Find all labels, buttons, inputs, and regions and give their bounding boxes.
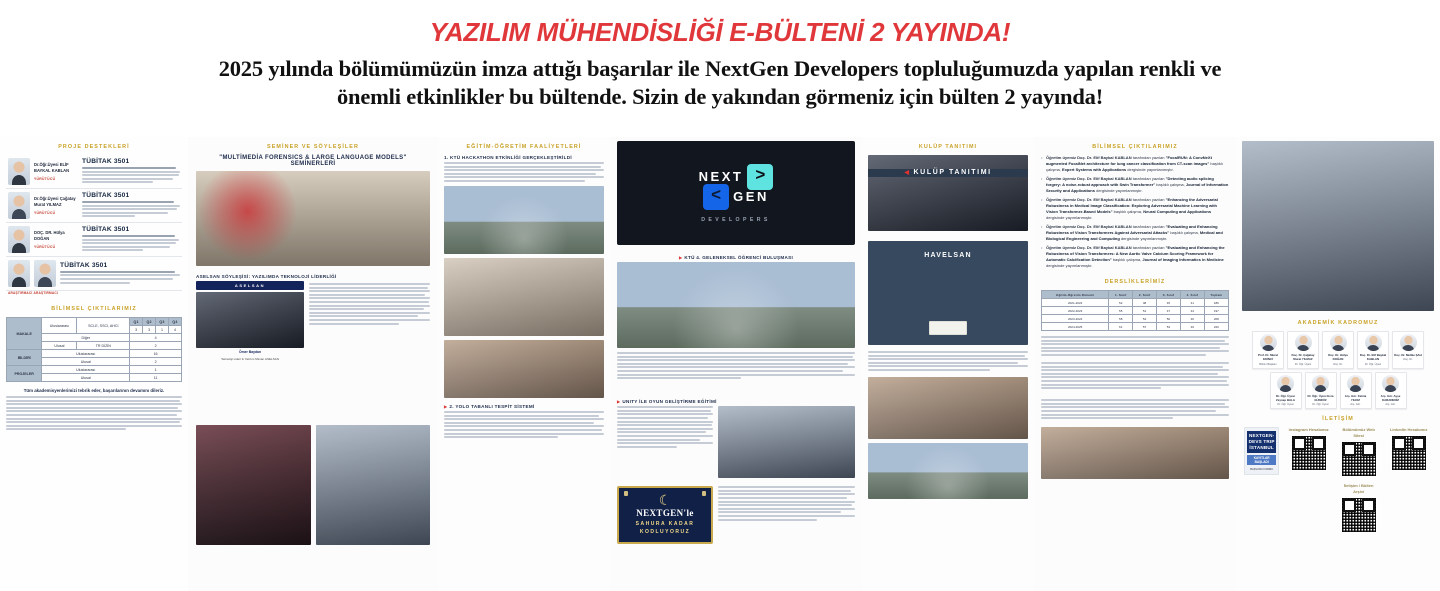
faculty-role: Doç. Dr. bbox=[1394, 358, 1422, 361]
column-faculty-and-contact: AKADEMİK KADROMUZ Prof. Dr. Murat EKİNCİ… bbox=[1236, 137, 1440, 591]
table-cell-y1: 58 bbox=[1109, 315, 1133, 323]
table-cell-y2: 57 bbox=[1133, 323, 1157, 331]
table-cell-total: 186 bbox=[1204, 299, 1228, 307]
faculty-name: Doç. Dr. Hülya DOĞAN bbox=[1324, 353, 1352, 362]
publication-end: dergisinde yayımlanmıştır. bbox=[1096, 188, 1142, 193]
avatar bbox=[1260, 334, 1277, 351]
section-heading-education: EĞİTİM-ÖĞRETİM FAALİYETLERİ bbox=[444, 144, 604, 150]
aselsan-talk-title: ASELSAN SÖYLEŞİSİ: YAZILIMDA TEKNOLOJİ L… bbox=[196, 274, 430, 279]
publication-item: Öğretim üyemiz Doç. Dr. Elif Baykal KABL… bbox=[1041, 197, 1229, 221]
club-intro-banner: KULÜP TANITIMI bbox=[868, 169, 1028, 177]
section-heading-project-supports: PROJE DESTEKLERİ bbox=[6, 144, 182, 150]
closing-paragraph bbox=[6, 396, 182, 430]
publication-item: Öğretim üyemiz Doç. Dr. Elif Baykal KABL… bbox=[1041, 176, 1229, 194]
table-cell-total: 208 bbox=[1204, 315, 1228, 323]
faculty-card: Prof. Dr. Murat EKİNCİ Bölüm Başkanı bbox=[1252, 331, 1284, 369]
table-cell-y1: 61 bbox=[1109, 323, 1133, 331]
hackathon-text bbox=[444, 162, 604, 182]
flyer-footer: BAŞVURU FORMU bbox=[1247, 468, 1276, 471]
publication-author: Öğretim üyemiz Doç. Dr. Elif Baykal KABL… bbox=[1046, 245, 1132, 250]
table-cell-term: 2021-2022 bbox=[1042, 299, 1109, 307]
lantern-icon bbox=[624, 491, 628, 496]
club-activity-photo bbox=[868, 377, 1028, 439]
table-cell-y4: 46 bbox=[1180, 315, 1204, 323]
faculty-name: Arş. Gör. Fatma YILDIZ bbox=[1342, 394, 1370, 403]
table-header-q3: Q3 bbox=[156, 318, 169, 326]
publication-item: Öğretim üyemiz Doç. Dr. Elif Baykal KABL… bbox=[1041, 224, 1229, 242]
scientific-outputs-table: MAKALE Uluslararası SCI-E, SSCI, AHCI Q1… bbox=[6, 317, 182, 382]
section-heading-seminars: SEMİNER VE SÖYLEŞİLER bbox=[196, 144, 430, 150]
qr-code-item[interactable]: Instagram Hesabımız bbox=[1289, 427, 1329, 477]
subtitle-line-1: 2025 yılında bölümümüzün imza attığı baş… bbox=[6, 55, 1434, 84]
seminar-photo bbox=[196, 171, 430, 266]
publication-author: Öğretim üyemiz Doç. Dr. Elif Baykal KABL… bbox=[1046, 155, 1132, 160]
table-cell-value: 1 bbox=[130, 366, 182, 374]
table-header-q4: Q4 bbox=[169, 318, 182, 326]
researcher-role: YÜRÜTÜCÜ bbox=[34, 211, 78, 215]
publication-connector: tarafından yazılan bbox=[1133, 224, 1165, 229]
flyer-subtitle: KAYITLAR BAŞLADI bbox=[1247, 455, 1276, 465]
researcher-role: YÜRÜTÜCÜ bbox=[34, 245, 78, 249]
yolo-text bbox=[444, 411, 604, 438]
faculty-card: Dr. Öğr. Üyesi Esra GÜNDÜZ Dr. Öğr. Üyes… bbox=[1305, 372, 1337, 410]
table-cell-y3: 53 bbox=[1157, 323, 1181, 331]
unity-training-photo bbox=[718, 406, 855, 478]
table-cell-group: Uluslararası bbox=[42, 350, 130, 358]
project-program: TÜBİTAK 3501 bbox=[82, 192, 180, 199]
sahura-poster-title: NEXTGEN'le bbox=[622, 508, 708, 518]
researcher-identity: Dr.Öğr.Üyesi ELİF BAYKAL KABLAN YÜRÜTÜCÜ bbox=[34, 162, 78, 181]
table-cell-group: Uluslararası bbox=[42, 366, 130, 374]
table-cell-y1: 55 bbox=[1109, 307, 1133, 315]
column-nextgen: NEXT > < GEN DEVELOPERS KTÜ 4. GELENEKSE… bbox=[610, 137, 862, 591]
lab-photo bbox=[444, 340, 604, 398]
publication-connector: tarafından yazılan bbox=[1133, 245, 1165, 250]
faculty-name: Dr. Öğr. Üyesi Esra GÜNDÜZ bbox=[1307, 394, 1335, 403]
club-intro-banner-label: KULÜP TANITIMI bbox=[904, 169, 991, 176]
publication-journal: Expert Systems with Applications bbox=[1062, 167, 1126, 172]
table-cell-value: 11 bbox=[130, 374, 182, 382]
publication-journal: Neural Computing and Applications bbox=[1143, 209, 1211, 214]
ceremony-photo bbox=[196, 425, 311, 545]
faculty-name: Prof. Dr. Murat EKİNCİ bbox=[1254, 353, 1282, 362]
table-cell-q3-value: 1 bbox=[156, 326, 169, 334]
classroom-photo bbox=[444, 258, 604, 336]
table-row: 2022-2023 55 51 47 44 197 bbox=[1042, 307, 1229, 315]
nextgen-developers-logo: NEXT > < GEN DEVELOPERS bbox=[617, 141, 855, 245]
lantern-icon bbox=[702, 491, 706, 496]
qr-code-item[interactable]: Bölümümüz Web Sitesi bbox=[1339, 427, 1379, 477]
researcher-name: Dr.Öğr.Üyesi ELİF BAYKAL KABLAN bbox=[34, 162, 78, 174]
avatar bbox=[1400, 334, 1417, 351]
table-header-total: Toplam bbox=[1204, 291, 1228, 299]
sahura-event-text bbox=[718, 486, 855, 544]
faculty-card: Dr. Öğr. Üyesi Zeynep BALA Dr. Öğr. Üyes… bbox=[1270, 372, 1302, 410]
committee-text bbox=[1041, 362, 1229, 389]
newsletter-poster-image: PROJE DESTEKLERİ Dr.Öğr.Üyesi ELİF BAYKA… bbox=[0, 137, 1440, 591]
meetup-text bbox=[617, 352, 855, 379]
aselsan-talk-photo bbox=[196, 292, 304, 348]
table-cell-total: 220 bbox=[1204, 323, 1228, 331]
faculty-name: Arş. Gör. Ayşe KARADENİZ bbox=[1377, 394, 1405, 403]
researcher-project: TÜBİTAK 3501 bbox=[60, 262, 180, 285]
researcher-card: DOÇ. DR. Hülya DOĞAN YÜRÜTÜCÜ TÜBİTAK 35… bbox=[6, 223, 182, 257]
faculty-role: Dr. Öğr. Üyesi bbox=[1289, 363, 1317, 366]
faculty-card: Doç. Dr. Çağatay Murat YILMAZ Dr. Öğr. Ü… bbox=[1287, 331, 1319, 369]
table-cell-group: Ulusal bbox=[42, 342, 77, 350]
table-header-term: Eğitim-Öğretim Dönemi bbox=[1042, 291, 1109, 299]
club-group-photo bbox=[868, 443, 1028, 499]
column-project-supports: PROJE DESTEKLERİ Dr.Öğr.Üyesi ELİF BAYKA… bbox=[0, 137, 188, 591]
meetup-photo bbox=[617, 262, 855, 348]
speaker-role: Teknoloji Lideri & Yazılım Mimarı ASELSA… bbox=[196, 357, 304, 362]
table-row: 2021-2022 52 48 45 41 186 bbox=[1042, 299, 1229, 307]
qr-code-icon[interactable] bbox=[1391, 435, 1427, 471]
avatar bbox=[1277, 375, 1294, 392]
student-counts-table: Eğitim-Öğretim Dönemi 1. Sınıf 2. Sınıf … bbox=[1041, 290, 1229, 331]
closing-heading: Tüm akademisyenlerimizi tebrik eder, baş… bbox=[6, 388, 182, 393]
table-row: Eğitim-Öğretim Dönemi 1. Sınıf 2. Sınıf … bbox=[1042, 291, 1229, 299]
table-cell-category: MAKALE bbox=[7, 318, 42, 350]
section-heading-faculty: AKADEMİK KADROMUZ bbox=[1242, 320, 1434, 326]
table-cell-y4: 44 bbox=[1180, 307, 1204, 315]
table-row: 2023-2024 58 54 50 46 208 bbox=[1042, 315, 1229, 323]
table-cell-y2: 51 bbox=[1133, 307, 1157, 315]
table-cell-y2: 48 bbox=[1133, 299, 1157, 307]
qr-code-group: Instagram Hesabımız Bölümümüz Web Sitesi… bbox=[1285, 427, 1432, 533]
aselsan-talk-text bbox=[309, 281, 430, 362]
havelsan-sign-label: HAVELSAN bbox=[868, 252, 1028, 259]
faculty-card: Doç. Dr. Hülya DOĞAN Doç. Dr. bbox=[1322, 331, 1354, 369]
avatar bbox=[1295, 334, 1312, 351]
subtitle-line-2: önemli etkinlikler bu bültende. Sizin de… bbox=[6, 83, 1434, 112]
publication-journal: Journal of Imaging Informatics in Medici… bbox=[1142, 257, 1223, 262]
avatar bbox=[34, 260, 56, 287]
aselsan-logo: ASELSAN bbox=[196, 281, 304, 290]
club-intro-photo: KULÜP TANITIMI bbox=[868, 155, 1028, 231]
havelsan-visit-text bbox=[868, 351, 1028, 371]
faculty-grid: Prof. Dr. Murat EKİNCİ Bölüm Başkanı Doç… bbox=[1242, 331, 1434, 409]
qr-code-icon[interactable] bbox=[1341, 441, 1377, 477]
researcher-project: TÜBİTAK 3501 bbox=[82, 226, 180, 253]
table-cell-group: Ulusal bbox=[42, 358, 130, 366]
table-row: PROJELER Uluslararası 1 bbox=[7, 366, 182, 374]
avatar bbox=[8, 158, 30, 185]
faculty-meeting-photo bbox=[1242, 141, 1434, 311]
sahura-poster-line2: KODLUYORUZ bbox=[622, 529, 708, 537]
advisory-text bbox=[1041, 399, 1229, 419]
faculty-name: Doç. Dr. Çağatay Murat YILMAZ bbox=[1289, 353, 1317, 362]
section-heading-courses: DERSLİKLERİMİZ bbox=[1041, 279, 1229, 285]
project-program: TÜBİTAK 3501 bbox=[82, 158, 180, 165]
section-heading-club-intro: KULÜP TANITIMI bbox=[868, 144, 1028, 150]
researcher-role: YÜRÜTÜCÜ bbox=[34, 177, 78, 181]
faculty-card: Doç. Dr. Elif Baykal KABLAN Dr. Öğr. Üye… bbox=[1357, 331, 1389, 369]
publication-author: Öğretim üyemiz Doç. Dr. Elif Baykal KABL… bbox=[1046, 224, 1132, 229]
researcher-identity: DOÇ. DR. Hülya DOĞAN YÜRÜTÜCÜ bbox=[34, 230, 78, 249]
publication-author: Öğretim üyemiz Doç. Dr. Elif Baykal KABL… bbox=[1046, 197, 1132, 202]
publication-connector: tarafından yazılan bbox=[1133, 176, 1165, 181]
table-cell-y3: 45 bbox=[1157, 299, 1181, 307]
qr-code-icon[interactable] bbox=[1341, 497, 1377, 533]
logo-row-bottom: < GEN bbox=[703, 184, 769, 210]
publication-end: dergisinde yayımlanmıştır. bbox=[1121, 236, 1167, 241]
faculty-card: Doç. Dr. Melike ŞAH Doç. Dr. bbox=[1392, 331, 1424, 369]
unity-training-text bbox=[617, 406, 713, 478]
qr-code-item[interactable]: LinkedIn Hesabımız bbox=[1389, 427, 1429, 477]
trip-flyer: NEXTGEN-DEVS TRIP İSTANBUL KAYITLAR BAŞL… bbox=[1244, 427, 1279, 475]
table-cell-y3: 47 bbox=[1157, 307, 1181, 315]
publication-item: Öğretim üyemiz Doç. Dr. Elif Baykal KABL… bbox=[1041, 155, 1229, 173]
table-cell-y1: 52 bbox=[1109, 299, 1133, 307]
flyer-title: NEXTGEN-DEVS TRIP İSTANBUL bbox=[1247, 431, 1276, 453]
publication-connector: tarafından yazılan bbox=[1133, 155, 1165, 160]
faculty-role: Doç. Dr. bbox=[1324, 363, 1352, 366]
table-header-year3: 3. Sınıf bbox=[1157, 291, 1181, 299]
table-row: BİLDİRİ Uluslararası 16 bbox=[7, 350, 182, 358]
sahura-poster-line1: SAHURA KADAR bbox=[622, 521, 708, 529]
researcher-identity: Dr.Öğr.Üyesi Çağatay Murat YILMAZ YÜRÜTÜ… bbox=[34, 196, 78, 215]
faculty-role: Dr. Öğr. Üyesi bbox=[1359, 363, 1387, 366]
table-cell-group: Ulusal bbox=[42, 374, 130, 382]
table-cell-total: 197 bbox=[1204, 307, 1228, 315]
qr-caption: Instagram Hesabımız bbox=[1289, 427, 1329, 433]
chevron-left-icon: < bbox=[703, 184, 729, 210]
publication-tail: başlıklı çalışma, bbox=[1156, 182, 1184, 187]
event-photo bbox=[1041, 427, 1229, 479]
table-cell-q4-value: 4 bbox=[169, 326, 182, 334]
table-cell-category: BİLDİRİ bbox=[7, 350, 42, 366]
avatar bbox=[1347, 375, 1364, 392]
table-header-year2: 2. Sınıf bbox=[1133, 291, 1157, 299]
researcher-project: TÜBİTAK 3501 bbox=[82, 158, 180, 185]
sahura-event-poster: ☾ NEXTGEN'le SAHURA KADAR KODLUYORUZ bbox=[617, 486, 713, 544]
faculty-role: Bölüm Başkanı bbox=[1254, 363, 1282, 366]
researcher-card: Dr.Öğr.Üyesi Çağatay Murat YILMAZ YÜRÜTÜ… bbox=[6, 189, 182, 223]
newsletter-header: YAZILIM MÜHENDİSLİĞİ E-BÜLTENİ 2 YAYINDA… bbox=[0, 0, 1440, 116]
logo-word-next: NEXT bbox=[699, 169, 744, 184]
logo-subtitle: DEVELOPERS bbox=[701, 217, 770, 223]
seminar-title: "MULTİMEDİA FORENSICS & LARGE LANGUAGE M… bbox=[196, 155, 430, 167]
publication-end: dergisinde yayımlanmıştır. bbox=[1127, 167, 1173, 172]
faculty-name: Doç. Dr. Melike ŞAH bbox=[1394, 353, 1422, 357]
qr-caption: LinkedIn Hesabımız bbox=[1389, 427, 1429, 433]
publication-item: Öğretim üyemiz Doç. Dr. Elif Baykal KABL… bbox=[1041, 245, 1229, 269]
section-heading-publications: BİLİMSEL ÇIKTILARIMIZ bbox=[1041, 144, 1229, 150]
table-cell-q1-value: 3 bbox=[130, 326, 143, 334]
researcher-role: ARAŞTIRMACI ARAŞTIRMACI bbox=[8, 291, 58, 295]
auditorium-photo bbox=[316, 425, 431, 545]
table-header-q2: Q2 bbox=[143, 318, 156, 326]
table-header-year1: 1. Sınıf bbox=[1109, 291, 1133, 299]
hackathon-title: 1. KTÜ HACKATHON ETKİNLİĞİ GERÇEKLEŞTİRİ… bbox=[444, 155, 604, 160]
publication-tail: başlıklı çalışma, bbox=[1113, 257, 1141, 262]
table-cell-value: 16 bbox=[130, 350, 182, 358]
unity-training-title: UNITY İLE OYUN GELİŞTİRME EĞİTİMİ bbox=[617, 399, 855, 404]
crescent-moon-icon: ☾ bbox=[622, 493, 708, 507]
column-club-intro: KULÜP TANITIMI KULÜP TANITIMI HAVELSAN bbox=[862, 137, 1034, 591]
qr-caption: Bölümümüz Web Sitesi bbox=[1339, 427, 1379, 439]
logo-word-gen: GEN bbox=[733, 190, 769, 203]
meetup-title: KTÜ 4. GELENEKSEL ÖĞRENCİ BULUŞMASI bbox=[617, 255, 855, 260]
qr-caption: İletişim / Bülten Arşivi bbox=[1339, 483, 1379, 495]
researcher-card: Dr.Öğr.Üyesi ELİF BAYKAL KABLAN YÜRÜTÜCÜ… bbox=[6, 155, 182, 189]
faculty-role: Dr. Öğr. Üyesi bbox=[1307, 403, 1335, 406]
table-cell-y4: 41 bbox=[1180, 299, 1204, 307]
page-title: YAZILIM MÜHENDİSLİĞİ E-BÜLTENİ 2 YAYINDA… bbox=[0, 18, 1440, 47]
column-scientific-outputs: BİLİMSEL ÇIKTILARIMIZ Öğretim üyemiz Doç… bbox=[1034, 137, 1236, 591]
table-cell-y2: 54 bbox=[1133, 315, 1157, 323]
publication-author: Öğretim üyemiz Doç. Dr. Elif Baykal KABL… bbox=[1046, 176, 1132, 181]
table-cell-group: Uluslararası bbox=[42, 318, 77, 334]
table-cell-value: 2 bbox=[130, 358, 182, 366]
speaker-name: Ömer Baydan bbox=[196, 350, 304, 355]
faculty-role: Arş. Gör. bbox=[1342, 403, 1370, 406]
publication-end: dergisinde yayımlanmıştır. bbox=[1046, 263, 1092, 268]
table-header-year4: 4. Sınıf bbox=[1180, 291, 1204, 299]
table-cell-term: 2022-2023 bbox=[1042, 307, 1109, 315]
avatar bbox=[1312, 375, 1329, 392]
avatar bbox=[8, 226, 30, 253]
publication-end: dergisinde yayımlanmıştır. bbox=[1046, 215, 1092, 220]
publication-tail: başlıklı çalışma, bbox=[1170, 230, 1198, 235]
page-subtitle: 2025 yılında bölümümüzün imza attığı baş… bbox=[0, 55, 1440, 113]
faculty-card: Arş. Gör. Fatma YILDIZ Arş. Gör. bbox=[1340, 372, 1372, 410]
avatar bbox=[1382, 375, 1399, 392]
table-cell-term: 2023-2024 bbox=[1042, 315, 1109, 323]
club-banner bbox=[929, 321, 967, 335]
faculty-name: Dr. Öğr. Üyesi Zeynep BALA bbox=[1272, 394, 1300, 403]
hackathon-photo bbox=[444, 186, 604, 254]
table-cell-category: PROJELER bbox=[7, 366, 42, 382]
courses-text bbox=[1041, 336, 1229, 356]
table-cell-type: SCI-E, SSCI, AHCI bbox=[77, 318, 130, 334]
table-row: 2024-2025 61 57 53 49 220 bbox=[1042, 323, 1229, 331]
avatar bbox=[1330, 334, 1347, 351]
avatar bbox=[1365, 334, 1382, 351]
section-heading-contact: İLETİŞİM bbox=[1242, 416, 1434, 422]
publication-tail: başlıklı çalışma, bbox=[1114, 209, 1142, 214]
havelsan-visit-photo: HAVELSAN bbox=[868, 241, 1028, 345]
faculty-role: Dr. Öğr. Üyesi bbox=[1272, 403, 1300, 406]
avatar bbox=[8, 260, 30, 287]
researcher-name: Dr.Öğr.Üyesi Çağatay Murat YILMAZ bbox=[34, 196, 78, 208]
section-heading-scientific-outputs: BİLİMSEL ÇIKTILARIMIZ bbox=[6, 306, 182, 312]
researcher-name: DOÇ. DR. Hülya DOĞAN bbox=[34, 230, 78, 242]
yolo-title: 2. YOLO TABANLI TESPİT SİSTEMİ bbox=[444, 404, 604, 409]
faculty-role: Arş. Gör. bbox=[1377, 403, 1405, 406]
avatar bbox=[8, 192, 30, 219]
project-program: TÜBİTAK 3501 bbox=[60, 262, 180, 269]
table-cell-type: Diğer bbox=[42, 334, 130, 342]
researcher-card: TÜBİTAK 3501 bbox=[6, 257, 182, 291]
faculty-name: Doç. Dr. Elif Baykal KABLAN bbox=[1359, 353, 1387, 362]
column-seminars: SEMİNER VE SÖYLEŞİLER "MULTİMEDİA FORENS… bbox=[188, 137, 438, 591]
table-cell-y4: 49 bbox=[1180, 323, 1204, 331]
table-cell-value: 4 bbox=[130, 334, 182, 342]
qr-code-icon[interactable] bbox=[1291, 435, 1327, 471]
project-program: TÜBİTAK 3501 bbox=[82, 226, 180, 233]
table-cell-term: 2024-2025 bbox=[1042, 323, 1109, 331]
table-cell-type: TR DİZİN bbox=[77, 342, 130, 350]
researcher-project: TÜBİTAK 3501 bbox=[82, 192, 180, 219]
publication-connector: tarafından yazılan bbox=[1133, 197, 1165, 202]
table-cell-q2-value: 3 bbox=[143, 326, 156, 334]
faculty-card: Arş. Gör. Ayşe KARADENİZ Arş. Gör. bbox=[1375, 372, 1407, 410]
table-cell-y3: 50 bbox=[1157, 315, 1181, 323]
table-row: MAKALE Uluslararası SCI-E, SSCI, AHCI Q1… bbox=[7, 318, 182, 326]
column-education: EĞİTİM-ÖĞRETİM FAALİYETLERİ 1. KTÜ HACKA… bbox=[438, 137, 610, 591]
qr-code-item[interactable]: İletişim / Bülten Arşivi bbox=[1339, 483, 1379, 533]
table-cell-value: 2 bbox=[130, 342, 182, 350]
table-header-q1: Q1 bbox=[130, 318, 143, 326]
